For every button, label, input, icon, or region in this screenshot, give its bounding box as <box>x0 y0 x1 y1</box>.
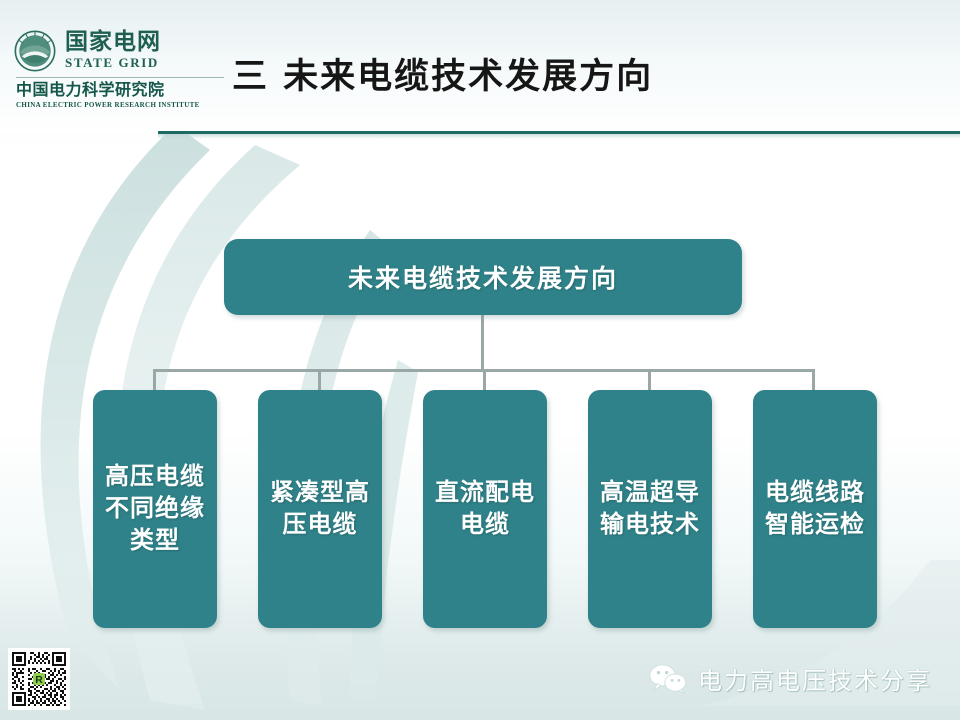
org-node-child-2[interactable]: 紧凑型高压电缆 <box>258 390 382 628</box>
wechat-icon <box>648 662 688 696</box>
org-node-root[interactable]: 未来电缆技术发展方向 <box>224 239 742 315</box>
qr-code-graphic: R <box>10 650 68 708</box>
connector-root-vertical <box>481 315 484 370</box>
org-node-child-5[interactable]: 电缆线路智能运检 <box>753 390 877 628</box>
org-node-child-1[interactable]: 高压电缆不同绝缘类型 <box>93 390 217 628</box>
org-node-child-4-label: 高温超导输电技术 <box>588 477 712 540</box>
connector-drop-3 <box>483 369 486 390</box>
org-node-root-label: 未来电缆技术发展方向 <box>348 259 618 295</box>
connector-drop-2 <box>318 369 321 390</box>
org-node-child-1-label: 高压电缆不同绝缘类型 <box>93 461 217 556</box>
org-chart: 未来电缆技术发展方向 高压电缆不同绝缘类型 紧凑型高压电缆 直流配电电缆 高温超… <box>0 0 960 720</box>
watermark-label: 电力高电压技术分享 <box>698 661 932 696</box>
org-node-child-5-label: 电缆线路智能运检 <box>753 477 877 540</box>
org-node-child-4[interactable]: 高温超导输电技术 <box>588 390 712 628</box>
slide-canvas: 国家电网 STATE GRID 中国电力科学研究院 CHINA ELECTRIC… <box>0 0 960 720</box>
connector-drop-4 <box>648 369 651 390</box>
org-node-child-3-label: 直流配电电缆 <box>423 477 547 540</box>
svg-text:R: R <box>35 675 43 686</box>
qr-code-icon[interactable]: R <box>8 648 70 710</box>
connector-drop-1 <box>153 369 156 390</box>
watermark: 电力高电压技术分享 <box>648 661 932 696</box>
org-node-child-2-label: 紧凑型高压电缆 <box>258 477 382 540</box>
connector-drop-5 <box>812 369 815 390</box>
org-node-child-3[interactable]: 直流配电电缆 <box>423 390 547 628</box>
